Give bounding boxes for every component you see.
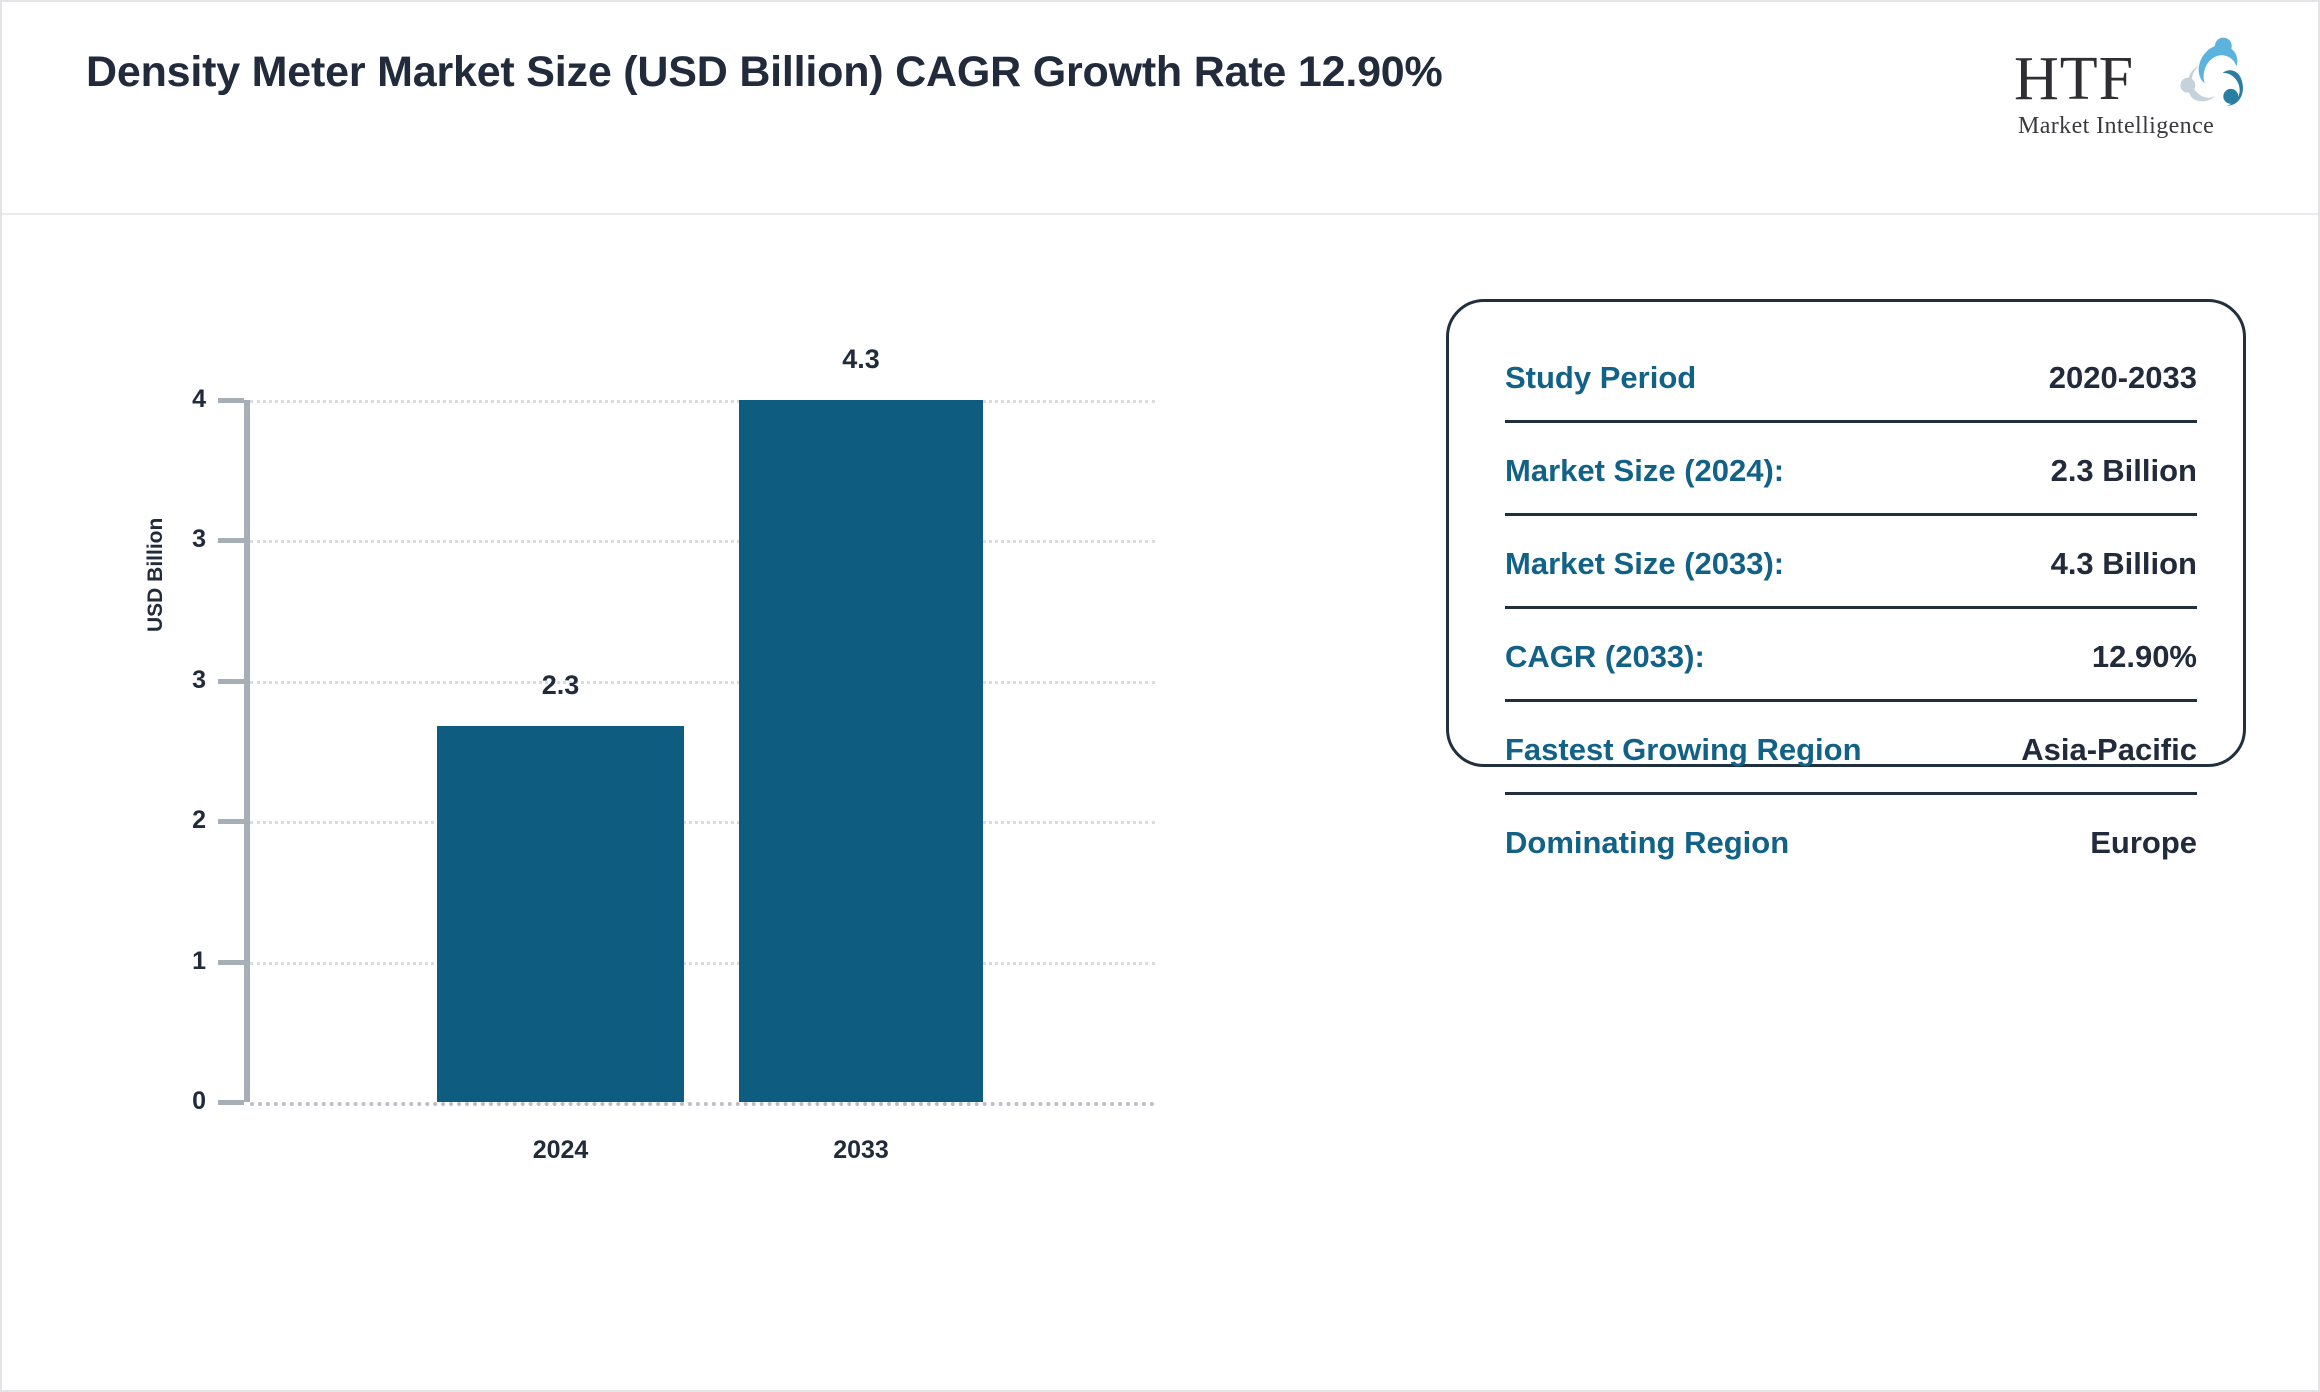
summary-label: CAGR (2033): [1505,639,1705,675]
y-axis-spine [244,400,250,1102]
market-size-infographic: Density Meter Market Size (USD Billion) … [0,0,2320,1392]
summary-value: 4.3 Billion [2051,546,2197,582]
y-tick-label-2: 2 [150,808,206,833]
y-tick-label-4: 4 [150,387,206,412]
gridline-4 [250,400,1155,403]
bar-value-2024: 2.3 [437,672,684,699]
y-tick-mark-1 [218,960,244,965]
plot-area: 4 3 3 2 1 0 2.3 4.3 2024 2033 [250,400,1155,1102]
bar-2033[interactable] [739,400,983,1102]
bar-value-2033: 4.3 [739,346,983,373]
summary-row-market-size-2024: Market Size (2024): 2.3 Billion [1505,423,2197,516]
y-tick-label-3b: 3 [150,527,206,552]
x-tick-label-2024: 2024 [437,1138,684,1163]
page-title: Density Meter Market Size (USD Billion) … [86,44,1486,101]
bar-chart: USD Billion 4 3 3 2 1 0 2.3 [122,302,1302,1222]
gridline-0 [250,1102,1155,1106]
gridline-2 [250,821,1155,824]
summary-label: Fastest Growing Region [1505,732,1862,768]
logo-wordmark: HTF [2014,48,2134,110]
summary-label: Market Size (2033): [1505,546,1784,582]
summary-value: Asia-Pacific [2021,732,2197,768]
summary-row-cagr-2033: CAGR (2033): 12.90% [1505,609,2197,702]
market-summary-card: Study Period 2020-2033 Market Size (2024… [1446,299,2246,767]
summary-label: Study Period [1505,360,1696,396]
summary-row-dominating-region: Dominating Region Europe [1505,795,2197,888]
y-tick-mark-4 [218,398,244,403]
y-tick-mark-3b [218,538,244,543]
x-tick-label-2033: 2033 [739,1138,983,1163]
summary-value: 2020-2033 [2049,360,2197,396]
logo-tagline: Market Intelligence [2018,113,2214,140]
summary-label: Market Size (2024): [1505,453,1784,489]
summary-row-study-period: Study Period 2020-2033 [1505,330,2197,423]
summary-row-market-size-2033: Market Size (2033): 4.3 Billion [1505,516,2197,609]
y-tick-mark-3a [218,679,244,684]
header: Density Meter Market Size (USD Billion) … [2,2,2318,215]
bar-2024[interactable] [437,726,684,1102]
summary-row-fastest-growing-region: Fastest Growing Region Asia-Pacific [1505,702,2197,795]
summary-row-list: Study Period 2020-2033 Market Size (2024… [1505,330,2197,888]
y-tick-label-0: 0 [150,1089,206,1114]
y-tick-label-3a: 3 [150,668,206,693]
summary-label: Dominating Region [1505,825,1789,861]
summary-value: Europe [2090,825,2197,861]
y-tick-label-1: 1 [150,949,206,974]
summary-value: 2.3 Billion [2051,453,2197,489]
summary-value: 12.90% [2092,639,2197,675]
y-tick-mark-0 [218,1100,244,1105]
y-tick-mark-2 [218,819,244,824]
gridline-1 [250,962,1155,965]
gridline-3b [250,540,1155,543]
three-people-circle-icon [2166,32,2262,116]
brand-logo[interactable]: HTF Market Intelligence [2014,30,2266,150]
gridline-3a [250,681,1155,684]
